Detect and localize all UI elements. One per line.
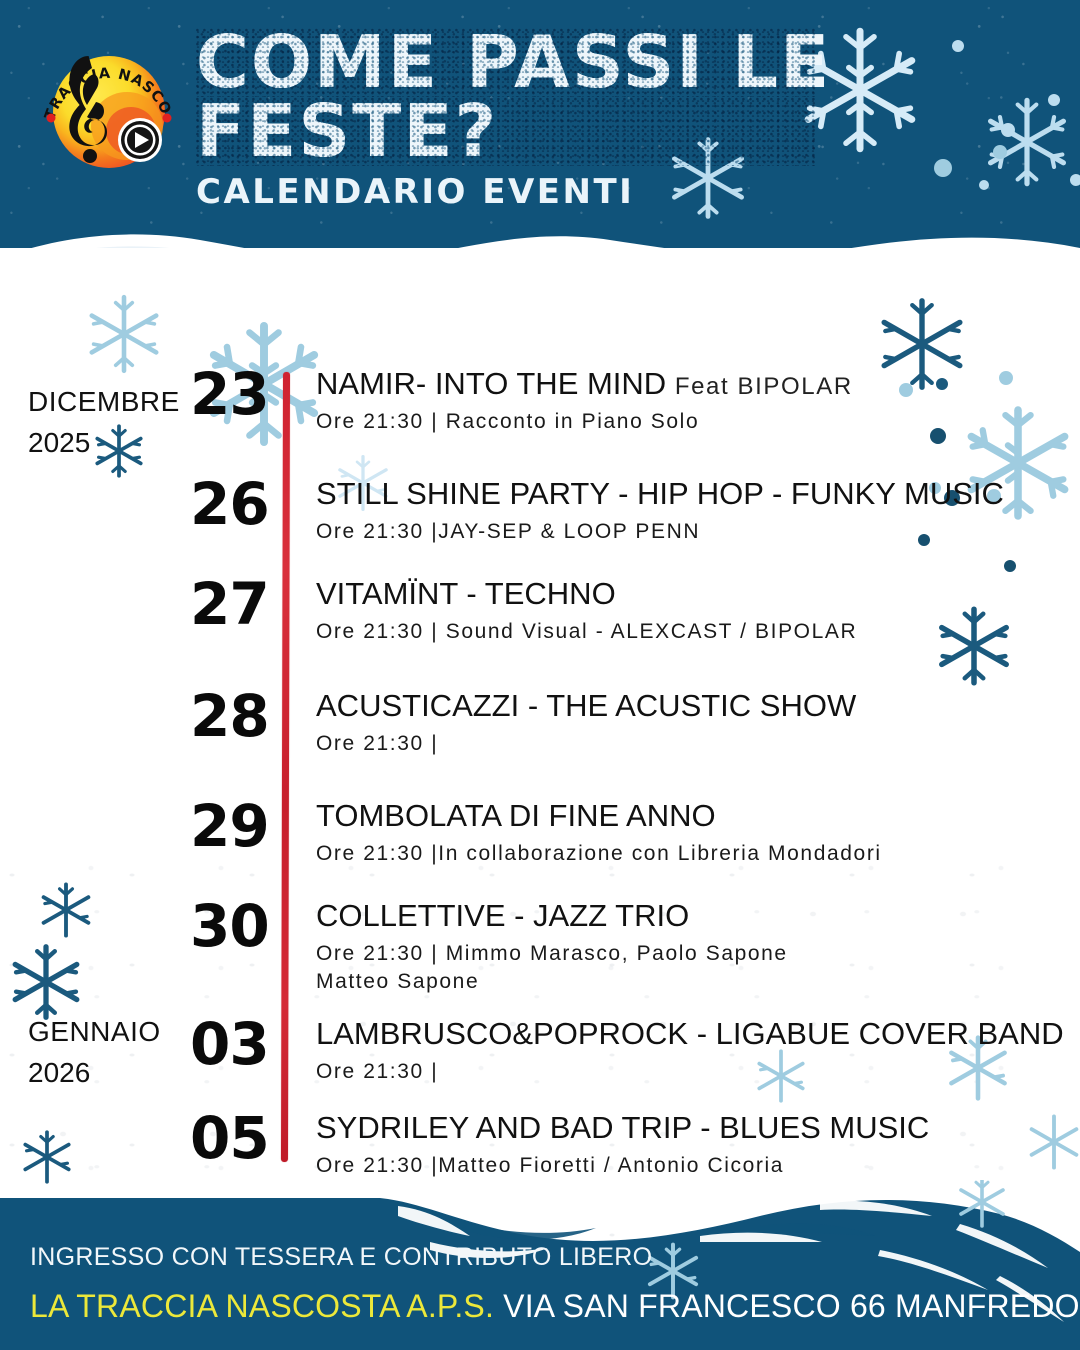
event-subtitle: Ore 21:30 | bbox=[316, 732, 1070, 756]
poster-footer: INGRESSO CON TESSERA E CONTRIBUTO LIBERO… bbox=[0, 1180, 1080, 1350]
event-title: ACUSTICAZZI - THE ACUSTIC SHOW bbox=[316, 690, 1070, 723]
event-day: 26 bbox=[190, 478, 286, 530]
event-feat: Feat BIPOLAR bbox=[675, 373, 853, 400]
la-traccia-nascosta-logo: LA TRACCIA NASCOSTA bbox=[34, 34, 184, 184]
event-row[interactable]: 27 VITAMÏNT - TECHNO Ore 21:30 | Sound V… bbox=[190, 578, 1070, 644]
event-subtitle: Ore 21:30 |In collaborazione con Libreri… bbox=[316, 842, 1070, 866]
event-title: TOMBOLATA DI FINE ANNO bbox=[316, 800, 1070, 833]
month-label-gennaio: GENNAIO 2026 bbox=[28, 1012, 198, 1093]
month-name: GENNAIO bbox=[28, 1012, 198, 1053]
event-day: 29 bbox=[190, 800, 286, 852]
month-name: DICEMBRE bbox=[28, 382, 198, 423]
event-day: 28 bbox=[190, 690, 286, 742]
footer-address: VIA SAN FRANCESCO 66 MANFREDONIA bbox=[494, 1288, 1080, 1324]
event-subtitle: Ore 21:30 |JAY-SEP & LOOP PENN bbox=[316, 520, 1070, 544]
header-dots bbox=[880, 30, 1080, 230]
title-block: COME PASSI LE FESTE? CALENDARIO EVENTI bbox=[196, 28, 816, 212]
page-title-line2: FESTE? bbox=[196, 97, 816, 166]
event-day: 27 bbox=[190, 578, 286, 630]
event-row[interactable]: 30 COLLETTIVE - JAZZ TRIO Ore 21:30 | Mi… bbox=[190, 900, 1070, 994]
footer-entry-note: INGRESSO CON TESSERA E CONTRIBUTO LIBERO bbox=[30, 1243, 1080, 1272]
month-year: 2025 bbox=[28, 423, 90, 464]
event-row[interactable]: 03 LAMBRUSCO&POPROCK - LIGABUE COVER BAN… bbox=[190, 1018, 1070, 1084]
footer-text-block: INGRESSO CON TESSERA E CONTRIBUTO LIBERO… bbox=[30, 1243, 1080, 1325]
event-row[interactable]: 05 SYDRILEY AND BAD TRIP - BLUES MUSIC O… bbox=[190, 1112, 1070, 1178]
event-row[interactable]: 29 TOMBOLATA DI FINE ANNO Ore 21:30 |In … bbox=[190, 800, 1070, 866]
event-subtitle-extra: Matteo Sapone bbox=[316, 970, 1070, 994]
event-subtitle: Ore 21:30 | Racconto in Piano Solo bbox=[316, 410, 1070, 434]
event-row[interactable]: 28 ACUSTICAZZI - THE ACUSTIC SHOW Ore 21… bbox=[190, 690, 1070, 756]
event-day: 03 bbox=[190, 1018, 286, 1070]
event-row[interactable]: 26 STILL SHINE PARTY - HIP HOP - FUNKY M… bbox=[190, 478, 1070, 544]
event-subtitle: Ore 21:30 | Sound Visual - ALEXCAST / BI… bbox=[316, 620, 1070, 644]
event-subtitle: Ore 21:30 |Matteo Fioretti / Antonio Cic… bbox=[316, 1154, 1070, 1178]
event-title: NAMIR- INTO THE MIND bbox=[316, 366, 666, 401]
event-subtitle: Ore 21:30 | Mimmo Marasco, Paolo Sapone bbox=[316, 942, 1070, 966]
month-label-dicembre: DICEMBRE 2025 bbox=[28, 382, 198, 463]
event-title: SYDRILEY AND BAD TRIP - BLUES MUSIC bbox=[316, 1112, 1070, 1145]
event-subtitle: Ore 21:30 | bbox=[316, 1060, 1070, 1084]
event-day: 30 bbox=[190, 900, 286, 952]
month-year: 2026 bbox=[28, 1053, 90, 1094]
poster-root: LA TRACCIA NASCOSTA bbox=[0, 0, 1080, 1350]
page-title-line1: COME PASSI LE bbox=[196, 28, 816, 97]
event-day: 05 bbox=[190, 1112, 286, 1164]
event-title-line: NAMIR- INTO THE MIND Feat BIPOLAR bbox=[316, 368, 1070, 401]
event-row[interactable]: 23 NAMIR- INTO THE MIND Feat BIPOLAR Ore… bbox=[190, 368, 1070, 434]
footer-org-name: LA TRACCIA NASCOSTA A.P.S. bbox=[30, 1288, 494, 1324]
event-title: VITAMÏNT - TECHNO bbox=[316, 578, 1070, 611]
header-snowflake-small bbox=[975, 90, 1079, 194]
footer-venue-line: LA TRACCIA NASCOSTA A.P.S. VIA SAN FRANC… bbox=[30, 1288, 1080, 1325]
event-title: LAMBRUSCO&POPROCK - LIGABUE COVER BAND bbox=[316, 1018, 1070, 1051]
event-day: 23 bbox=[190, 368, 286, 420]
event-title: COLLETTIVE - JAZZ TRIO bbox=[316, 900, 1070, 933]
event-title: STILL SHINE PARTY - HIP HOP - FUNKY MUSI… bbox=[316, 478, 1070, 511]
play-button-icon bbox=[118, 118, 162, 162]
